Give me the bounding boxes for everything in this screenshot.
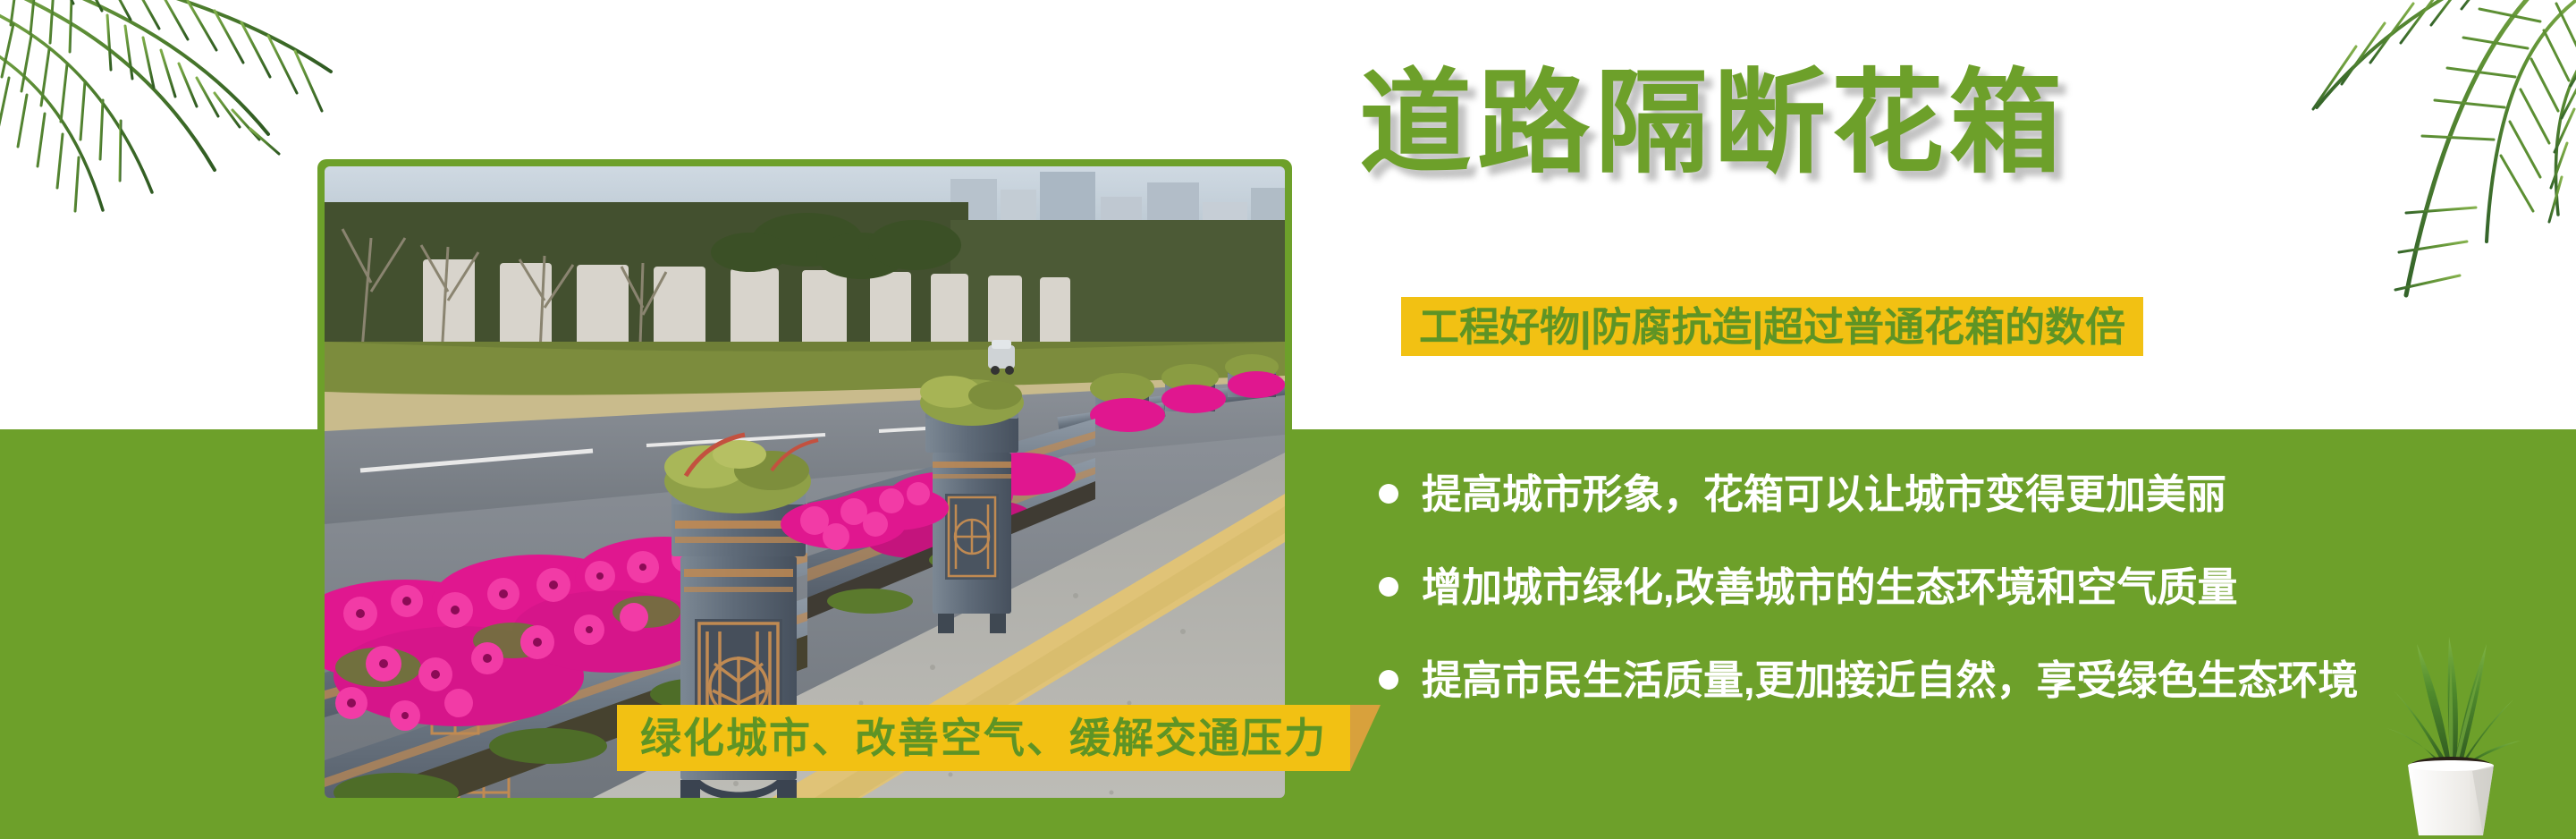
list-item-label: 增加城市绿化,改善城市的生态环境和空气质量 — [1422, 567, 2238, 607]
photo-caption-ribbon: 绿化城市、改善空气、缓解交通压力 — [617, 705, 1350, 771]
list-item-label: 提高市民生活质量,更加接近自然，享受绿色生态环境 — [1422, 660, 2359, 700]
bullet-dot-icon — [1379, 670, 1398, 690]
list-item-label: 提高城市形象，花箱可以让城市变得更加美丽 — [1422, 474, 2226, 514]
benefit-list: 提高城市形象，花箱可以让城市变得更加美丽 增加城市绿化,改善城市的生态环境和空气… — [1359, 447, 2576, 726]
photo-image — [325, 166, 1285, 798]
promo-banner: 绿化城市、改善空气、缓解交通压力 道路隔断花箱 工程好物|防腐抗造|超过普通花箱… — [0, 0, 2576, 839]
subtitle-text: 工程好物|防腐抗造|超过普通花箱的数倍 — [1419, 307, 2125, 347]
bullet-dot-icon — [1379, 484, 1398, 504]
photo-caption-text: 绿化城市、改善空气、缓解交通压力 — [640, 717, 1327, 758]
list-item: 增加城市绿化,改善城市的生态环境和空气质量 — [1359, 540, 2576, 633]
list-item: 提高城市形象，花箱可以让城市变得更加美丽 — [1359, 447, 2576, 540]
subtitle-badge: 工程好物|防腐抗造|超过普通花箱的数倍 — [1401, 297, 2143, 356]
page-title: 道路隔断花箱 — [1359, 67, 2067, 180]
copy-column: 道路隔断花箱 工程好物|防腐抗造|超过普通花箱的数倍 提高城市形象，花箱可以让城… — [1359, 0, 2576, 839]
list-item: 提高市民生活质量,更加接近自然，享受绿色生态环境 — [1359, 633, 2576, 726]
bullet-dot-icon — [1379, 577, 1398, 597]
